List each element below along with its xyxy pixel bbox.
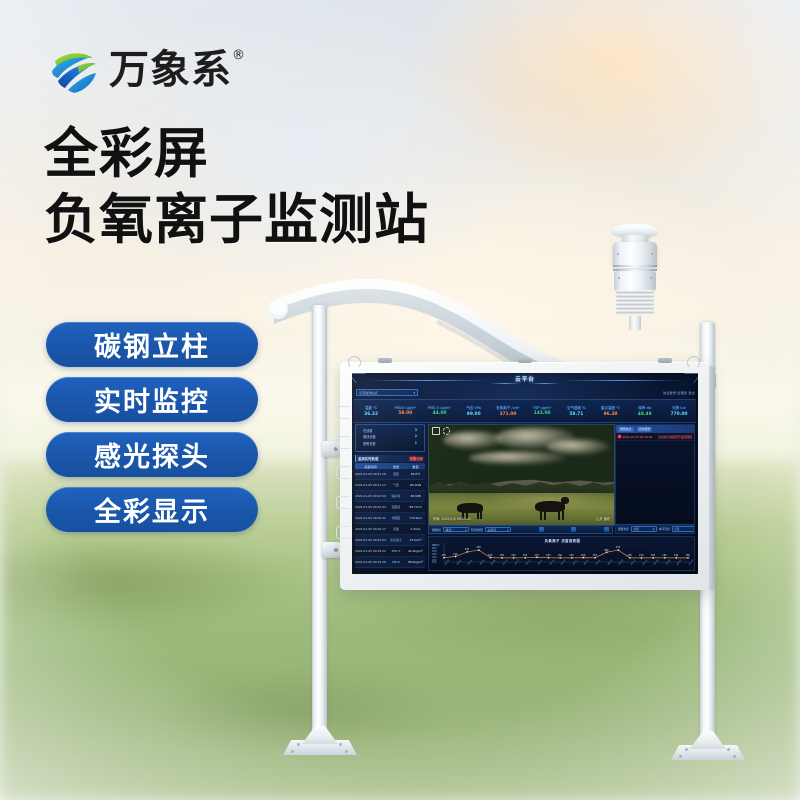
table-row[interactable]: 2022-01-05 09:19:21 总悬浮物 143.0ug/m³: [355, 568, 425, 570]
cell-type: 风速: [386, 527, 406, 531]
fullscreen-button[interactable]: [604, 527, 609, 532]
sensor-screw: [617, 253, 619, 255]
station-select[interactable]: 示范监测站点 ▾: [356, 389, 418, 396]
chart-point-label: 150: [651, 554, 655, 557]
metric-value: 99.00: [467, 412, 481, 417]
trend-chart: 负氧离子 浓度趋势图 个/cm³ 700600500400300200100 0…: [428, 536, 695, 571]
data-table-body[interactable]: 2022-01-05 09:21:18 温度 36.8℃ 2022-01-05 …: [355, 469, 425, 570]
sensor-screw: [618, 277, 620, 279]
metric-item: PM10 ug/m³ 58.00: [388, 400, 422, 422]
mount-hook-icon: [348, 356, 361, 369]
cell-time: 2022-01-05 09:20:44: [355, 505, 386, 509]
stream-select-value: 主码流: [488, 528, 496, 532]
cabinet-side-bracket: [336, 526, 350, 539]
chart-point-label: 152: [593, 554, 597, 557]
cell-time: 2022-01-05 09:21:13: [355, 483, 386, 487]
alarm-row[interactable]: 2022-01-05 09:18:02 负氧离子浓度低于设定阈值: [616, 433, 694, 441]
stat-label: 在线数: [363, 428, 373, 433]
stat-value: 1: [415, 441, 417, 446]
station-select-value: 示范监测站点: [359, 390, 378, 395]
radiation-shield-louver: [616, 306, 654, 309]
headline-line-2: 负氧离子监测站: [44, 192, 474, 248]
camera-select-value: 通道一: [446, 528, 454, 532]
feature-pill-light-sensor[interactable]: 感光探头: [46, 432, 258, 477]
alarm-type-label: 报警类型: [618, 527, 629, 531]
base-bolt: [727, 748, 730, 751]
stat-row: 报警总数 1: [356, 441, 424, 446]
screen-header: 云平台: [352, 373, 698, 388]
table-row[interactable]: 2022-01-05 09:20:04 负氧离子 371/cm³: [355, 535, 425, 546]
cell-value: 58.0ug/m³: [406, 560, 425, 564]
mount-tab: [378, 358, 392, 363]
chart-point-label: 152: [523, 554, 527, 557]
metric-value: 96.38: [604, 412, 618, 417]
alarm-type-select[interactable]: 全部 ▾: [631, 526, 657, 532]
stat-label: 离线设备: [363, 434, 376, 439]
cell-value: 44.0ug/m³: [406, 549, 425, 553]
chart-point-label: 150: [627, 554, 631, 557]
base-bolt: [733, 755, 736, 758]
chart-point-label: 155: [442, 554, 446, 557]
cabinet-side-bracket: [336, 406, 350, 419]
camera-select-label: 摄像机: [432, 528, 441, 532]
table-row[interactable]: 2022-01-05 09:20:44 湿度值 58.7%rh: [355, 502, 425, 513]
camera-control-bar[interactable]: 摄像机 通道一 ▾ 码流类型 主码流 ▾: [428, 525, 613, 534]
cabinet-side-bracket: [336, 466, 350, 479]
metric-value: 36.32: [364, 412, 378, 417]
alarm-range-label: 时间范围: [659, 527, 670, 531]
registered-mark: ®: [232, 48, 246, 63]
chart-point-label: 150: [511, 554, 515, 557]
table-row[interactable]: 2022-01-05 09:21:13 气压 99.1kPa: [355, 480, 425, 491]
snapshot-button[interactable]: [571, 527, 576, 532]
radiation-shield-louver: [616, 298, 654, 301]
column-header: 数值: [406, 464, 425, 469]
cabinet-side-bracket: [336, 496, 350, 509]
alarm-filter-chip[interactable]: 实时报警: [637, 427, 653, 432]
base-bolt: [291, 750, 294, 753]
cow-leg: [544, 511, 546, 520]
cell-value: 2.3m/s: [406, 527, 425, 531]
base-bolt: [339, 743, 342, 746]
headline-line-1: 全彩屏: [44, 126, 474, 182]
metric-label: 负氧离子 /cm³: [496, 405, 519, 410]
timestamp-label: 时间:: [433, 517, 440, 521]
brand-logo: 万象系®: [48, 44, 246, 96]
stat-row: 离线设备 2: [356, 434, 424, 439]
radiation-shield-louver: [616, 290, 654, 293]
cell-value: 770.0lux: [406, 516, 425, 520]
cabinet-right-edge: [709, 366, 715, 590]
cell-value: 99.1kPa: [406, 483, 425, 487]
chart-point-label: 150: [639, 554, 643, 557]
cell-time: 2022-01-05 09:20:04: [355, 538, 386, 542]
alarm-dot-icon: [618, 435, 621, 438]
ultrasonic-weather-sensor: [604, 224, 666, 328]
metric-item: 空气湿度 % 58.71: [559, 400, 593, 422]
data-table-header: 监测实时数据 报警记录: [355, 455, 425, 462]
feed-cloud: [469, 451, 565, 465]
chevron-down-icon: ▾: [694, 527, 695, 531]
header-deco-line: [490, 383, 520, 384]
base-bolt: [685, 748, 688, 751]
timestamp-value: 2022/1/5 09:21:42: [441, 517, 471, 521]
chart-point-label: 150: [569, 554, 573, 557]
base-bolt: [345, 750, 348, 753]
cell-time: 2022-01-05 09:20:59: [355, 494, 386, 498]
metric-label: TSP ug/m³: [533, 406, 551, 410]
table-row[interactable]: 2022-01-05 09:19:38 PM10 58.0ug/m³: [355, 557, 425, 568]
metric-item: 露点温度 ℃ 96.38: [593, 400, 627, 422]
column-header: 类型: [386, 464, 406, 469]
stream-select-label: 码流类型: [471, 528, 483, 532]
table-row[interactable]: 2022-01-05 09:19:52 PM2.5 44.0ug/m³: [355, 546, 425, 557]
base-bolt: [297, 743, 300, 746]
radiation-shield-louver: [616, 302, 654, 305]
cow-leg: [477, 512, 479, 519]
metric-item: TSP ug/m³ 143.00: [525, 400, 559, 422]
alarm-panel: 报警信息 实时报警 2022-01-05 09:18:02 负氧离子浓度低于设定…: [615, 424, 695, 534]
table-row[interactable]: 2022-01-05 09:20:31 光照度 770.0lux: [355, 513, 425, 524]
device-stats-box: 在线数 3 离线设备 2 报警总数 1: [355, 424, 425, 452]
brand-name-group: 万象系®: [109, 50, 246, 90]
sensor-screw: [650, 277, 652, 279]
metric-label: 露点温度 ℃: [601, 405, 620, 410]
metric-value: 48.49: [638, 412, 652, 417]
cell-value: 36.8℃: [406, 472, 425, 476]
data-table-title: 监测实时数据: [358, 456, 378, 461]
sensor-screw: [651, 253, 653, 255]
cabinet-side-bracket: [336, 436, 350, 449]
play-button[interactable]: [539, 527, 544, 532]
cow-head: [561, 497, 569, 504]
feature-pill-carbon-steel-post[interactable]: 碳钢立柱: [46, 322, 258, 367]
led-display-cabinet: 云平台 欢迎登录,管理员 退出 示范监测站点 ▾ 温度 ℃ 36.32 PM10…: [340, 362, 710, 590]
cell-type: 光照度: [386, 516, 406, 520]
cow-leg: [480, 512, 482, 519]
sensor-mounting-stem: [629, 316, 641, 330]
metric-label: 空气湿度 %: [567, 405, 585, 410]
feature-pill-label: 全彩显示: [94, 490, 210, 529]
feed-timestamp: 时间: 2022/1/5 09:21:42: [433, 516, 471, 521]
metric-value: 371.00: [499, 412, 516, 417]
brand-name: 万象系: [109, 47, 232, 93]
feature-pill-full-color-display[interactable]: 全彩显示: [46, 487, 258, 532]
chart-point-label: 210: [453, 553, 457, 556]
metric-label: 噪声 db: [638, 405, 651, 410]
feature-pill-label: 碳钢立柱: [94, 325, 210, 364]
chart-point-label: 175: [534, 554, 538, 557]
chart-point-label: 160: [581, 554, 585, 557]
chart-point-label: 155: [546, 554, 550, 557]
cell-time: 2022-01-05 09:20:17: [355, 527, 386, 531]
flange-base-plate-right: [671, 731, 745, 761]
sensor-lower-body: [614, 271, 656, 291]
cell-value: 48.9dB: [406, 494, 425, 498]
mount-hook-icon: [687, 356, 700, 369]
carbon-steel-post-left: [312, 305, 327, 735]
chevron-down-icon: ▾: [413, 391, 415, 395]
led-screen-content: 云平台 欢迎登录,管理员 退出 示范监测站点 ▾ 温度 ℃ 36.32 PM10…: [352, 373, 698, 574]
chart-point-label: 395: [465, 548, 469, 551]
feature-pill-label: 感光探头: [94, 435, 210, 474]
chart-point-label: 380: [604, 549, 608, 552]
chart-y-tick: 100: [432, 561, 437, 564]
column-header: 采集时间: [355, 464, 386, 469]
feed-location: 山东 潍坊: [596, 516, 610, 521]
camera-live-feed[interactable]: 时间: 2022/1/5 09:21:42 山东 潍坊: [428, 424, 615, 526]
alarm-range-select[interactable]: 今日 ▾: [672, 526, 696, 532]
metric-value: 143.00: [534, 411, 551, 416]
cell-type: 负氧离子: [386, 538, 406, 542]
chevron-down-icon: ▾: [653, 527, 654, 531]
chart-point-label: 470: [616, 546, 620, 549]
alarm-type-value: 全部: [633, 527, 639, 531]
cell-time: 2022-01-05 09:19:38: [355, 560, 386, 564]
cow-leg: [558, 511, 560, 520]
feature-pill-realtime-monitoring[interactable]: 实时监控: [46, 377, 258, 422]
cell-type: 气压: [386, 483, 406, 487]
cell-time: 2022-01-05 09:21:18: [355, 472, 386, 476]
metric-label: 光照 lux: [672, 405, 686, 410]
base-bolt: [679, 755, 682, 758]
metric-value: 770.00: [670, 412, 687, 417]
globe-swoosh-logo-icon: [48, 44, 100, 96]
cell-type: PM10: [386, 560, 406, 564]
stat-value: 2: [415, 434, 417, 439]
mount-tab: [658, 358, 672, 363]
metric-item: 光照 lux 770.00: [662, 400, 696, 422]
cell-type: PM2.5: [386, 549, 406, 553]
radiation-shield-louver: [616, 310, 654, 313]
mount-tab: [518, 358, 532, 363]
table-row[interactable]: 2022-01-05 09:20:17 风速 2.3m/s: [355, 524, 425, 535]
metric-value: 58.00: [398, 411, 412, 416]
metric-item: 负氧离子 /cm³ 371.00: [491, 400, 525, 422]
chart-point-label: 470: [476, 546, 480, 549]
table-row[interactable]: 2022-01-05 09:20:59 噪声值 48.9dB: [355, 491, 425, 502]
cow-leg: [562, 511, 564, 520]
metric-value: 44.00: [433, 411, 447, 416]
metric-strip: 温度 ℃ 36.32 PM10 ug/m³ 58.00 PM2.5 ug/m³ …: [354, 399, 696, 423]
cell-type: 湿度值: [386, 505, 406, 509]
feature-pill-list: 碳钢立柱 实时监控 感光探头 全彩显示: [46, 322, 258, 532]
table-row[interactable]: 2022-01-05 09:21:18 温度 36.8℃: [355, 469, 425, 480]
chart-point-label: 160: [488, 554, 492, 557]
cow-leg: [540, 511, 542, 520]
header-deco-line: [530, 383, 560, 384]
chevron-down-icon: ▾: [465, 528, 466, 532]
alarm-records-tag[interactable]: 报警记录: [409, 456, 423, 461]
metric-label: PM2.5 ug/m³: [428, 406, 451, 410]
radiation-shield-louver: [616, 294, 654, 297]
metric-label: 温度 ℃: [365, 405, 377, 410]
alarm-time: 2022-01-05 09:18:02: [623, 435, 653, 439]
chart-point-label: 150: [686, 554, 690, 557]
stat-value: 3: [415, 428, 417, 433]
cell-value: 371/cm³: [406, 538, 425, 542]
base-gusset: [302, 726, 338, 744]
feed-overlay-icons[interactable]: [432, 427, 450, 435]
metric-label: PM10 ug/m³: [395, 406, 416, 410]
metric-label: 气压 kPa: [467, 405, 481, 410]
feed-cloud: [547, 439, 609, 455]
cell-time: 2022-01-05 09:19:52: [355, 549, 386, 553]
snapshot-icon[interactable]: [443, 427, 451, 435]
stat-label: 报警总数: [363, 441, 376, 446]
metric-item: PM2.5 ug/m³ 44.00: [422, 400, 456, 422]
cell-time: 2022-01-05 09:20:31: [355, 516, 386, 520]
headline-block: 全彩屏 负氧离子监测站: [44, 126, 474, 248]
flange-base-plate-left: [283, 726, 357, 756]
screen-title: 云平台: [352, 375, 698, 383]
screen-left-column: 在线数 3 离线设备 2 报警总数 1 监测实时数据 报警记录: [355, 424, 425, 570]
cell-type: 温度: [386, 472, 406, 476]
alarm-range-value: 今日: [674, 527, 680, 531]
camera-select[interactable]: 通道一 ▾: [443, 527, 469, 533]
chart-point-label: 150: [500, 554, 504, 557]
cell-type: 噪声值: [386, 494, 406, 498]
metric-item: 温度 ℃ 36.32: [354, 400, 388, 422]
feed-cloud: [443, 431, 503, 449]
alarm-panel-footer[interactable]: 报警类型 全部 ▾ 时间范围 今日 ▾: [616, 524, 695, 533]
cell-value: 58.7%rh: [406, 505, 425, 509]
chevron-down-icon: ▾: [507, 528, 508, 532]
chart-point-label: 152: [662, 554, 666, 557]
metric-item: 噪声 db 48.49: [628, 400, 662, 422]
chart-point-label: 150: [674, 554, 678, 557]
login-status[interactable]: 欢迎登录,管理员 退出: [663, 390, 695, 395]
alarm-message: 负氧离子浓度低于设定阈值: [658, 435, 692, 439]
post-clamp-lower: [322, 542, 341, 558]
feature-pill-label: 实时监控: [94, 380, 210, 419]
chart-point-label: 150: [558, 554, 562, 557]
metric-value: 58.71: [569, 412, 583, 417]
metric-item: 气压 kPa 99.00: [457, 400, 491, 422]
alarm-panel-title: 报警信息: [618, 427, 634, 432]
stream-select[interactable]: 主码流 ▾: [485, 527, 511, 533]
product-promo-image: 云平台 欢迎登录,管理员 退出 示范监测站点 ▾ 温度 ℃ 36.32 PM10…: [0, 0, 800, 800]
sensor-ring: [613, 265, 657, 267]
alarm-panel-header: 报警信息 实时报警: [616, 425, 694, 433]
fullscreen-icon[interactable]: [432, 427, 440, 435]
base-gusset: [690, 731, 726, 749]
stat-row: 在线数 3: [356, 428, 424, 433]
